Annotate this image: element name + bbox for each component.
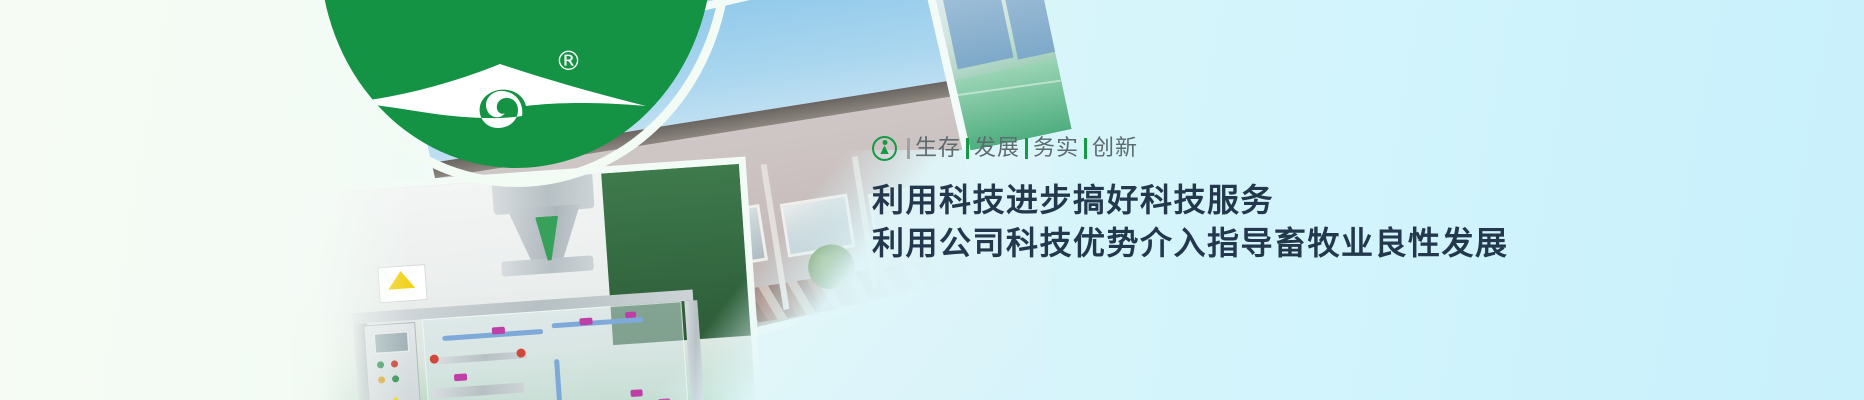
brand-disc: ® (320, 0, 712, 168)
wave-bird-logo-icon (350, 58, 650, 138)
slogan-word-3: 创新 (1092, 137, 1138, 159)
slogan-separator-2 (1025, 138, 1028, 159)
green-person-circle-icon (872, 136, 897, 161)
slogan-separator-1 (966, 138, 969, 159)
slogan-word-1: 发展 (974, 137, 1020, 159)
banner-text-block: 生存 发展 务实 创新 利用科技进步搞好科技服务 利用公司科技优势介入指导畜牧业… (872, 0, 1509, 400)
packaging-machinery-photo (280, 164, 757, 400)
slogan-word-0: 生存 (915, 137, 961, 159)
hero-banner: ® 生存 发展 务实 创新 利用科技进步搞好科技服务 利用公司科技优势介入指导畜… (0, 0, 1864, 400)
company-slogan-row: 生存 发展 务实 创新 (872, 136, 1509, 161)
registered-trademark-symbol: ® (555, 48, 582, 75)
slogan-separator-3 (1084, 138, 1087, 159)
headline-line-2: 利用公司科技优势介入指导畜牧业良性发展 (872, 222, 1509, 265)
slogan-word-2: 务实 (1033, 137, 1079, 159)
slogan-separator-0 (907, 138, 910, 159)
headline-line-1: 利用科技进步搞好科技服务 (872, 179, 1509, 222)
